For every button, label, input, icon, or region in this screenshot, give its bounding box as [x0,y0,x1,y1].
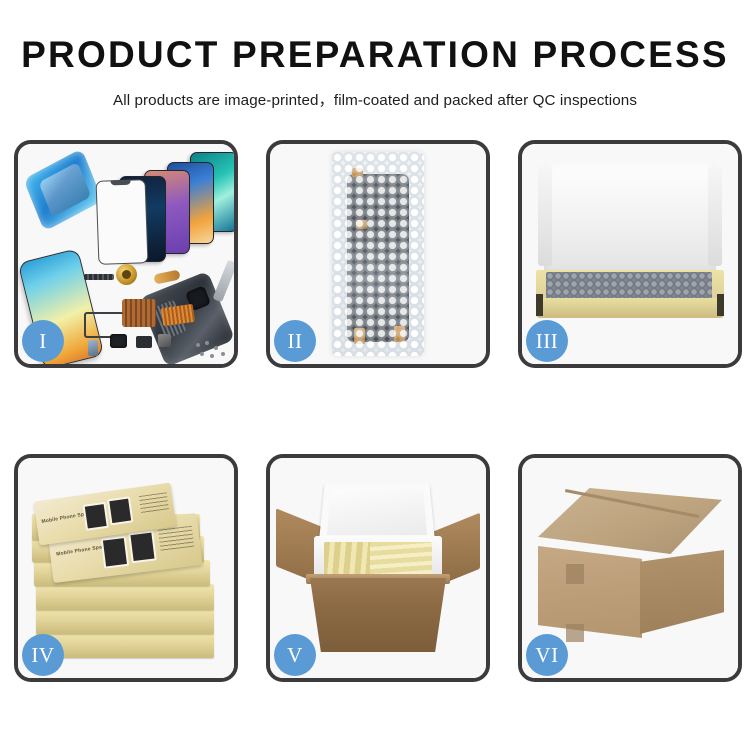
step-badge-6: VI [526,634,568,676]
foam-lid-icon [544,162,716,274]
carton-body-icon [310,578,446,652]
step-badge-1: I [22,320,64,362]
screen-protector-icon [96,179,149,265]
box-end-cap-left-icon [536,294,543,316]
page-header: PRODUCT PREPARATION PROCESS All products… [0,0,750,110]
tape-piece-icon [356,220,367,229]
process-step-panel-3: III [518,140,742,368]
tempered-glass-icon [23,148,102,231]
box-window-icon [128,530,156,563]
page-title: PRODUCT PREPARATION PROCESS [0,36,750,75]
box-end-cap-right-icon [717,294,724,316]
box-window-icon [101,536,129,569]
tape-piece-icon [354,328,365,344]
tweezers-icon [212,260,234,303]
circuit-chip-icon [122,299,156,327]
process-step-panel-2: II [266,140,490,368]
step-badge-5: V [274,634,316,676]
tape-piece-icon [352,168,363,177]
carton-handle-tab-icon [566,564,584,584]
box-window-icon [83,502,109,531]
step-badge-2: II [274,320,316,362]
small-module-icon [158,334,171,347]
process-step-panel-1: I [14,140,238,368]
step-badge-4: IV [22,634,64,676]
carton-front-face-icon [538,546,642,638]
box-window-icon [107,496,133,525]
kraft-box-front-icon [536,298,724,318]
speaker-coil-icon [116,264,137,285]
process-steps-grid: I II III [14,140,736,682]
page-subtitle: All products are image-printed，film-coat… [0,88,750,110]
bubble-wrapped-contents-icon [546,272,712,299]
process-step-panel-4: Mobile Phone Spare Parts Mobile Phone Sp… [14,454,238,682]
lcd-screen-part-icon [347,174,409,342]
process-step-panel-6: VI [518,454,742,682]
notch-icon [111,180,131,186]
carton-side-face-icon [640,550,724,634]
step-badge-3: III [526,320,568,362]
box-spec-lines-icon [158,526,194,552]
tape-piece-icon [394,326,405,342]
sim-tray-icon [88,340,98,356]
yellow-boxes-stacked-icon [370,542,432,576]
box-layer [36,608,214,634]
speaker-bar-icon [84,274,114,280]
carton-handle-tab-icon [566,624,584,642]
process-step-panel-5: V [266,454,490,682]
bubble-wrap-bag-icon [332,152,424,356]
screws-icon [194,340,228,360]
box-spec-lines-icon [139,492,169,514]
camera-module-icon [110,334,127,348]
box-stack-icon: Mobile Phone Spare Parts Mobile Phone Sp… [32,484,222,664]
styrofoam-lid-icon [319,483,435,543]
carton-top-face-icon [538,488,722,554]
box-layer [36,584,214,610]
earpiece-icon [136,336,152,348]
